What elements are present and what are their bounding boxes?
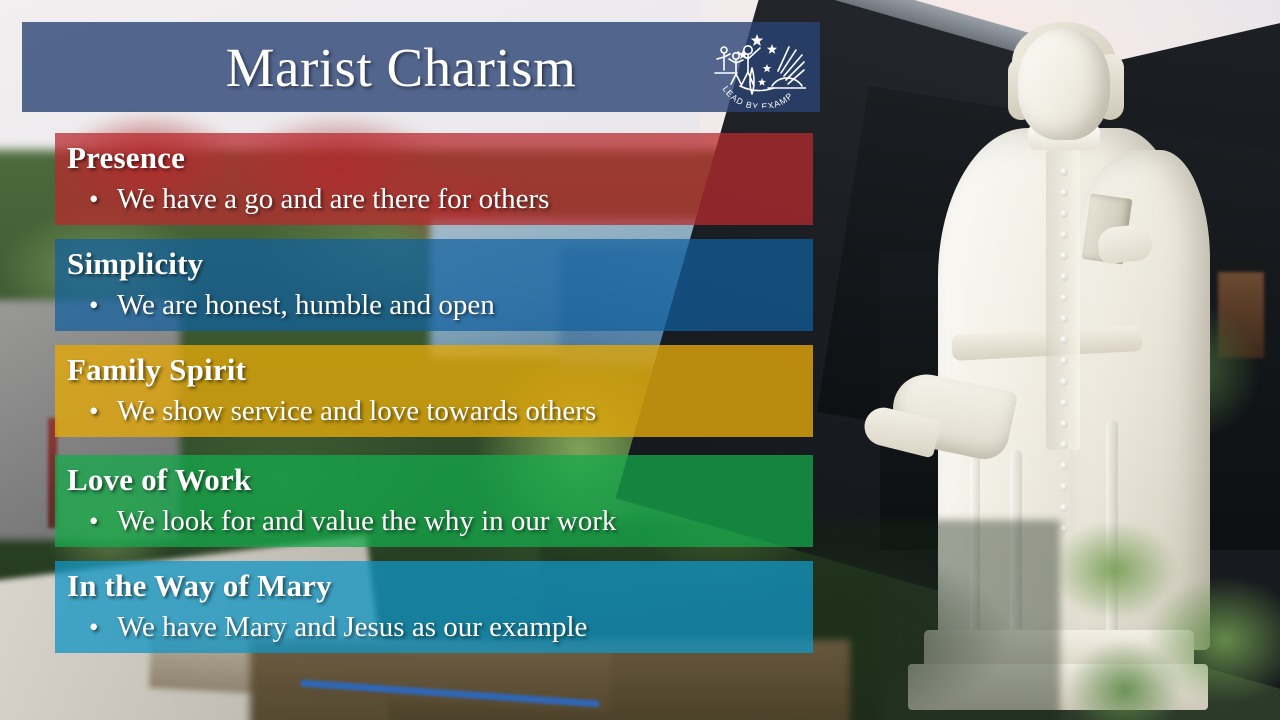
value-bullet-row: • We have a go and are there for others	[67, 177, 813, 221]
bullet-icon: •	[89, 283, 117, 327]
bullet-icon: •	[89, 605, 117, 649]
logo-motto: LEAD BY EXAMPLE	[710, 26, 795, 108]
value-bullet-row: • We look for and value the why in our w…	[67, 499, 813, 543]
value-text: We have Mary and Jesus as our example	[117, 605, 587, 649]
svg-text:LEAD BY EXAMPLE: LEAD BY EXAMPLE	[710, 26, 795, 108]
value-text: We are honest, humble and open	[117, 283, 495, 327]
value-bullet-row: • We have Mary and Jesus as our example	[67, 605, 813, 649]
value-heading: Presence	[67, 139, 813, 177]
lead-by-example-logo: LEAD BY EXAMPLE	[710, 26, 806, 108]
value-heading: Love of Work	[67, 461, 813, 499]
value-band-love-of-work: Love of Work • We look for and value the…	[55, 455, 813, 547]
value-band-in-the-way-of-mary: In the Way of Mary • We have Mary and Je…	[55, 561, 813, 653]
value-bullet-row: • We show service and love towards other…	[67, 389, 813, 433]
value-band-presence: Presence • We have a go and are there fo…	[55, 133, 813, 225]
value-bullet-row: • We are honest, humble and open	[67, 283, 813, 327]
bush-lower-right	[1055, 500, 1280, 720]
slide: Marist Charism	[0, 0, 1280, 720]
value-text: We look for and value the why in our wor…	[117, 499, 616, 543]
title-bar: Marist Charism	[22, 22, 820, 112]
bullet-icon: •	[89, 499, 117, 543]
value-heading: Simplicity	[67, 245, 813, 283]
statue-buttons	[1060, 168, 1068, 458]
value-heading: Family Spirit	[67, 351, 813, 389]
value-band-simplicity: Simplicity • We are honest, humble and o…	[55, 239, 813, 331]
value-text: We show service and love towards others	[117, 389, 596, 433]
value-band-family-spirit: Family Spirit • We show service and love…	[55, 345, 813, 437]
bullet-icon: •	[89, 177, 117, 221]
bullet-icon: •	[89, 389, 117, 433]
page-title: Marist Charism	[22, 40, 710, 95]
value-heading: In the Way of Mary	[67, 567, 813, 605]
statue-head	[1018, 28, 1110, 140]
value-text: We have a go and are there for others	[117, 177, 549, 221]
